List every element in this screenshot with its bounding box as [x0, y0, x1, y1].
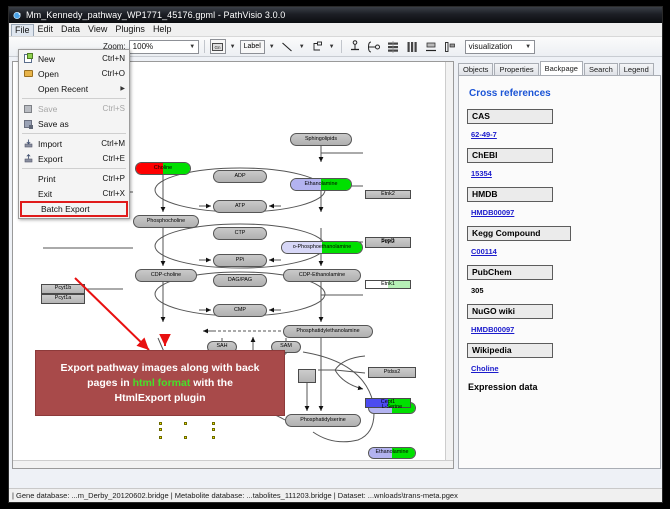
file-menu-label: Save [35, 104, 103, 114]
file-menu-accelerator: Ctrl+E [103, 154, 129, 163]
interaction-icon[interactable] [309, 39, 325, 54]
node-gene-etnk1[interactable]: Etnk1 [365, 280, 411, 289]
toolbar-divider-2 [341, 40, 342, 53]
file-menu-item-save: Save Ctrl+S [19, 101, 129, 116]
node-label: L-Serine [382, 405, 402, 410]
xref-value-link[interactable]: HMDB00097 [471, 325, 514, 334]
node-ctp[interactable]: CTP [213, 227, 267, 240]
side-panel-tabs: Objects Properties Backpage Search Legen… [458, 61, 661, 75]
node-gene-unlabeled[interactable] [298, 369, 316, 383]
node-cdp-ethanolamine[interactable]: CDP-Ethanolamine [283, 269, 361, 282]
file-menu-label: Import [35, 139, 101, 149]
backpage-content: Cross references CAS 62-49-7 ChEBI 15354… [458, 75, 661, 469]
file-menu-label: Exit [35, 189, 103, 199]
node-cdp-choline[interactable]: CDP-choline [135, 269, 197, 282]
tab-search[interactable]: Search [584, 63, 618, 75]
xref-database-label: Wikipedia [467, 343, 553, 358]
datanode-dropdown-icon[interactable]: ▼ [229, 44, 237, 50]
label-dropdown-icon[interactable]: ▼ [268, 44, 276, 50]
align-vertical-icon[interactable] [404, 39, 420, 54]
zoom-combobox[interactable]: 100% ▼ [129, 40, 199, 54]
xref-chebi: ChEBI 15354 [467, 148, 652, 181]
zoom-value: 100% [133, 42, 187, 51]
xref-nugo-wiki: NuGO wiki HMDB00097 [467, 304, 652, 337]
file-menu-accelerator: Ctrl+X [103, 189, 129, 198]
node-choline-top[interactable]: Choline [135, 162, 191, 175]
file-menu-separator-2 [22, 133, 126, 134]
file-menu-accelerator: Ctrl+O [102, 69, 129, 78]
file-menu-label: Save as [35, 119, 125, 129]
node-gene-pcyt1b[interactable]: Pcyt1b [41, 284, 85, 294]
node-phosphatidylserine[interactable]: Phosphatidylserine [285, 414, 361, 427]
menu-edit[interactable]: Edit [34, 23, 58, 36]
blank-icon [21, 82, 35, 95]
import-icon [21, 137, 35, 150]
tab-objects[interactable]: Objects [458, 63, 493, 75]
xref-value-link[interactable]: 15354 [471, 169, 492, 178]
node-label: Ethanolamine [305, 182, 338, 187]
tab-legend[interactable]: Legend [619, 63, 654, 75]
pathvisio-icon [13, 11, 22, 20]
expression-data-heading: Expression data [468, 382, 652, 392]
xref-value-link[interactable]: C00114 [471, 247, 497, 256]
window-title: Mm_Kennedy_pathway_WP1771_45176.gpml - P… [26, 10, 285, 20]
datanode-icon[interactable]: Gn [210, 39, 226, 54]
xref-wikipedia: Wikipedia Choline [467, 343, 652, 376]
svg-text:Gn: Gn [215, 45, 222, 50]
xref-value-link[interactable]: Choline [471, 364, 499, 373]
callout-line-2-highlight: html format [133, 377, 191, 389]
file-menu-item-batch-export[interactable]: Batch Export [20, 201, 128, 217]
xref-database-label: Kegg Compound [467, 226, 571, 241]
xref-database-label: CAS [467, 109, 553, 124]
menubar: File Edit Data View Plugins Help [9, 23, 662, 37]
cross-references-heading: Cross references [469, 88, 652, 99]
node-phosphocholine[interactable]: Phosphocholine [133, 215, 199, 228]
callout-line-2-post: with the [190, 377, 233, 389]
side-panel: Objects Properties Backpage Search Legen… [458, 61, 661, 469]
toolbar-divider [204, 40, 205, 53]
node-cmp[interactable]: CMP [213, 304, 267, 317]
node-ppi[interactable]: PPi [213, 254, 267, 267]
file-menu-item-exit[interactable]: Exit Ctrl+X [19, 186, 129, 201]
menu-file[interactable]: File [11, 24, 34, 36]
node-label: o-Phosphoethanolamine [293, 245, 351, 250]
visualization-value: visualization [469, 42, 523, 51]
file-menu-item-open[interactable]: Open Ctrl+O [19, 66, 129, 81]
xref-database-label: ChEBI [467, 148, 553, 163]
file-menu-label: Open Recent [35, 84, 120, 94]
node-gene-pcyt1a[interactable]: Pcyt1a [41, 294, 85, 304]
node-gene-ptdss2[interactable]: Ptdss2 [368, 367, 416, 378]
xref-value-text: 305 [471, 286, 484, 295]
menu-view[interactable]: View [84, 23, 111, 36]
callout-line-2-pre: pages in [87, 377, 133, 389]
node-label: Cept1 [381, 400, 395, 405]
node-label: Choline [154, 166, 172, 171]
node-phosphatidylethanolamine[interactable]: Phosphatidylethanolamine [283, 325, 373, 338]
blank-icon-3 [21, 187, 35, 200]
file-menu-item-open-recent[interactable]: Open Recent ▶ [19, 81, 129, 96]
canvas-horizontal-scrollbar[interactable] [13, 460, 453, 468]
xref-database-label: NuGO wiki [467, 304, 553, 319]
chevron-down-icon: ▼ [187, 41, 198, 53]
callout-line-3: HtmlExport plugin [115, 392, 206, 404]
visualization-combobox[interactable]: visualization ▼ [465, 40, 535, 54]
file-menu-label: Open [35, 69, 102, 79]
group-icon[interactable] [423, 39, 439, 54]
file-menu-separator [22, 98, 126, 99]
node-sphingolipids[interactable]: Sphingolipids [290, 133, 352, 146]
file-menu-label: Print [35, 174, 103, 184]
statusbar-text: | Gene database: ...m_Derby_20120602.bri… [12, 491, 458, 500]
node-label: Sgpl1 [381, 239, 395, 244]
selection-handles[interactable] [161, 424, 213, 437]
menu-plugins[interactable]: Plugins [111, 23, 149, 36]
align-horizontal-icon[interactable] [385, 39, 401, 54]
node-gene-etnk2[interactable]: Etnk2 [365, 190, 411, 199]
open-folder-icon [21, 67, 35, 80]
tab-properties[interactable]: Properties [494, 63, 538, 75]
save-as-icon [21, 117, 35, 130]
xref-cas: CAS 62-49-7 [467, 109, 652, 142]
file-menu-accelerator: Ctrl+N [102, 54, 129, 63]
save-icon [21, 102, 35, 115]
file-menu-accelerator: Ctrl+S [103, 104, 129, 113]
window-titlebar: Mm_Kennedy_pathway_WP1771_45176.gpml - P… [9, 7, 662, 23]
node-label: Etnk1 [381, 282, 395, 287]
xref-hmdb: HMDB HMDB00097 [467, 187, 652, 220]
line-dropdown-icon[interactable]: ▼ [298, 44, 306, 50]
xref-value-link[interactable]: 62-49-7 [471, 130, 497, 139]
xref-database-label: PubChem [467, 265, 553, 280]
new-document-icon [21, 52, 35, 65]
node-dag-pag[interactable]: DAG/PAG [213, 274, 267, 287]
bracket-icon[interactable] [366, 39, 382, 54]
chevron-right-icon: ▶ [120, 85, 129, 92]
chevron-down-icon-2: ▼ [523, 41, 534, 53]
label-tool-text: Label [244, 43, 261, 50]
tab-backpage[interactable]: Backpage [540, 61, 583, 75]
xref-database-label: HMDB [467, 187, 553, 202]
node-ethanolamine-bottom[interactable]: Ethanolamine [368, 447, 416, 459]
file-menu-dropdown[interactable]: New Ctrl+N Open Ctrl+O Open Recent ▶ Sav… [18, 49, 130, 219]
node-label: Ethanolamine [376, 450, 409, 455]
blank-icon-4 [24, 203, 38, 216]
statusbar: | Gene database: ...m_Derby_20120602.bri… [9, 488, 663, 502]
node-ethanolamine-top[interactable]: Ethanolamine [290, 178, 352, 191]
file-menu-item-save-as[interactable]: Save as [19, 116, 129, 131]
node-o-phosphoethanolamine[interactable]: o-Phosphoethanolamine [281, 241, 363, 254]
file-menu-item-import[interactable]: Import Ctrl+M [19, 136, 129, 151]
menu-data[interactable]: Data [57, 23, 84, 36]
file-menu-item-export[interactable]: Export Ctrl+E [19, 151, 129, 166]
xref-value-link[interactable]: HMDB00097 [471, 208, 514, 217]
file-menu-label: Export [35, 154, 103, 164]
canvas-vertical-scrollbar[interactable] [445, 62, 453, 468]
file-menu-separator-3 [22, 168, 126, 169]
pathvisio-window: Mm_Kennedy_pathway_WP1771_45176.gpml - P… [8, 6, 663, 503]
file-menu-accelerator: Ctrl+M [101, 139, 129, 148]
export-icon [21, 152, 35, 165]
node-adp[interactable]: ADP [213, 170, 267, 183]
order-icon[interactable] [442, 39, 458, 54]
xref-pubchem: PubChem 305 [467, 265, 652, 298]
label-tool-button[interactable]: Label [240, 40, 265, 54]
anchor-icon[interactable] [347, 39, 363, 54]
interaction-dropdown-icon[interactable]: ▼ [328, 44, 336, 50]
file-menu-item-new[interactable]: New Ctrl+N [19, 51, 129, 66]
blank-icon-2 [21, 172, 35, 185]
node-atp[interactable]: ATP [213, 200, 267, 213]
xref-kegg-compound: Kegg Compound C00114 [467, 226, 652, 259]
file-menu-label: Batch Export [38, 204, 126, 214]
menu-help[interactable]: Help [149, 23, 176, 36]
file-menu-label: New [35, 54, 102, 64]
line-icon[interactable] [279, 39, 295, 54]
annotation-callout: Export pathway images along with back pa… [35, 350, 285, 416]
file-menu-item-print[interactable]: Print Ctrl+P [19, 171, 129, 186]
file-menu-accelerator: Ctrl+P [103, 174, 129, 183]
screenshot-root: Mm_Kennedy_pathway_WP1771_45176.gpml - P… [0, 0, 670, 509]
callout-line-1: Export pathway images along with back [61, 362, 260, 374]
